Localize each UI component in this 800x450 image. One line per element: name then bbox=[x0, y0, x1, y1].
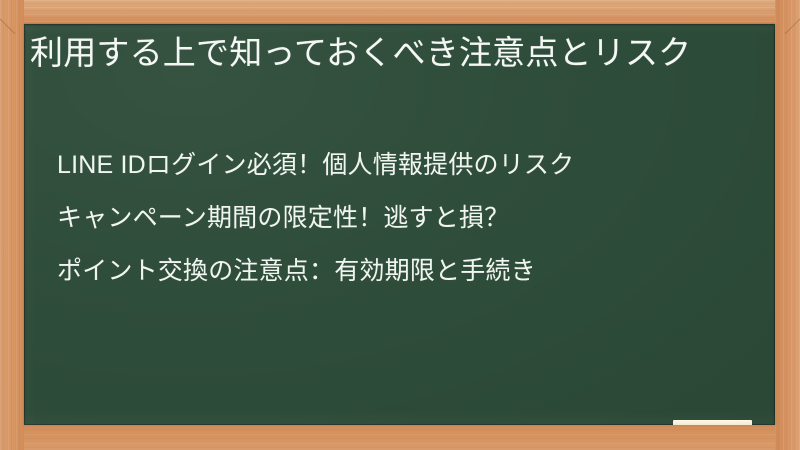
slide-bullet-item: LINE IDログイン必須！個人情報提供のリスク bbox=[57, 150, 757, 180]
frame-rail-right bbox=[775, 0, 800, 450]
chalkboard-slide: 利用する上で知っておくべき注意点とリスク LINE IDログイン必須！個人情報提… bbox=[0, 0, 800, 450]
chalkboard-surface: 利用する上で知っておくべき注意点とリスク LINE IDログイン必須！個人情報提… bbox=[24, 24, 775, 425]
slide-bullet-item: ポイント交換の注意点：有効期限と手続き bbox=[57, 256, 757, 286]
chalk-stick-icon bbox=[673, 420, 752, 425]
chalkboard-content: 利用する上で知っておくべき注意点とリスク LINE IDログイン必須！個人情報提… bbox=[24, 24, 775, 425]
slide-heading: 利用する上で知っておくべき注意点とリスク bbox=[30, 30, 755, 75]
frame-rail-top bbox=[0, 0, 800, 24]
frame-rail-left bbox=[0, 0, 24, 450]
frame-rail-bottom bbox=[0, 425, 800, 450]
slide-bullet-list: LINE IDログイン必須！個人情報提供のリスク キャンペーン期間の限定性！逃す… bbox=[57, 150, 757, 286]
slide-bullet-item: キャンペーン期間の限定性！逃すと損？ bbox=[57, 203, 757, 233]
